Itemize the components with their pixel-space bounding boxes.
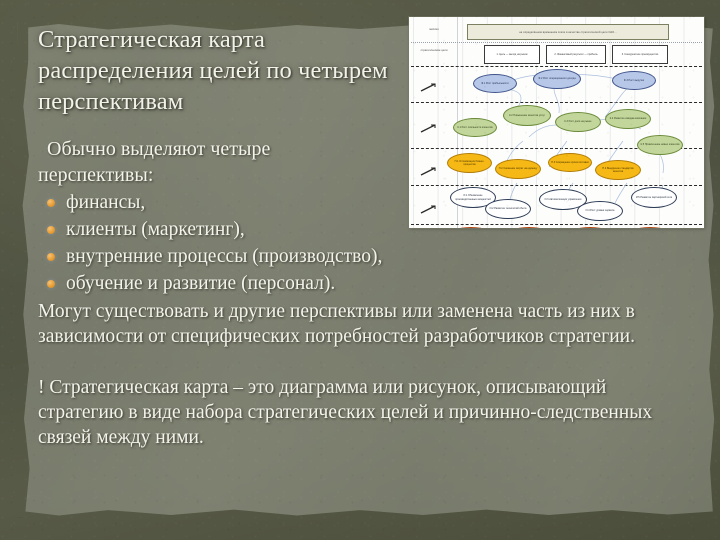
map-node: Р.4 Развитие кадрового резерва — [625, 227, 675, 228]
page-title: Стратегическая карта распределения целей… — [38, 24, 388, 117]
goal-box: 1. Цель — выход на рынок — [484, 45, 540, 64]
band-arrow-icon — [420, 79, 437, 88]
map-node: Ф.2 Рост операционного дохода — [533, 69, 581, 89]
row-separator-dotted — [411, 42, 702, 43]
lead-paragraph: Обычно выделяют четыре перспективы: — [38, 136, 368, 188]
map-node: П.4 Внедрение стандартов качества — [595, 160, 641, 180]
map-node: И.2 Развитие технологий сбыта — [485, 199, 531, 219]
band-arrow-icon — [420, 120, 437, 129]
band-separator — [411, 102, 702, 103]
band-label-mission: миссия — [413, 28, 455, 32]
mission-bar-label: на определённом временном этапе в качест… — [468, 25, 668, 39]
list-item: внутренние процессы (производство), — [38, 243, 683, 270]
map-node: Р.3 Формирование корпоративной культуры — [565, 227, 615, 228]
band-separator — [411, 66, 702, 67]
map-node: К.3 Рост доли на рынке — [555, 112, 601, 132]
map-node: П.3 Сокращение срока поставки — [548, 153, 592, 172]
map-node: П.1 Оптимизация бизнес-процессов — [447, 153, 492, 173]
list-item-label: финансы, — [66, 192, 145, 213]
goal-box: 2. Финансовый результат — прибыль — [546, 45, 606, 64]
map-node: Р.2 Развитие системы мотивации — [504, 227, 554, 228]
bullet-dot-icon — [47, 226, 55, 234]
map-node: Ф.3 Рост выручки — [612, 71, 656, 90]
band-separator — [411, 185, 702, 186]
map-node: К.5 Привлечение новых клиентов — [637, 135, 683, 155]
map-node: К.4 Развитие имиджа компании — [605, 109, 651, 129]
bullet-dot-icon — [47, 280, 55, 288]
band-label-strategic-goals: стратегические цели — [413, 49, 455, 53]
band-arrow-icon — [420, 163, 437, 172]
map-node: Ф.1 Рост прибыльности — [473, 74, 517, 93]
map-node: К.2 Повышение качества услуг — [503, 105, 551, 126]
bullet-dot-icon — [47, 199, 55, 207]
goal-box: 3. Конкурентное преимущество — [612, 45, 668, 64]
strategic-map-image[interactable]: миссия на определённом временном этапе в… — [409, 17, 704, 228]
list-item-label: внутренние процессы (производство), — [66, 246, 382, 267]
map-node: К.1 Рост лояльности клиентов — [453, 118, 497, 137]
mission-bar: на определённом временном этапе в качест… — [467, 24, 669, 40]
slide: Стратегическая карта распределения целей… — [0, 0, 720, 540]
map-node: И.5 Развитие партнёрской сети — [631, 187, 677, 208]
body-paragraph-1: Могут существовать и другие перспективы … — [38, 299, 678, 349]
band-arrow-icon — [420, 201, 437, 210]
list-item: обучение и развитие (персонал). — [38, 270, 683, 297]
band-separator — [411, 224, 702, 225]
list-item-label: клиенты (маркетинг), — [66, 219, 245, 240]
map-node: П.2 Снижение затрат на единицу — [495, 159, 541, 179]
list-item-label: обучение и развитие (персонал). — [66, 273, 335, 294]
map-node: И.4 Рост уровня сервиса — [577, 201, 623, 221]
body-paragraph-2: ! Стратегическая карта – это диаграмма и… — [38, 375, 678, 450]
bullet-dot-icon — [47, 253, 55, 261]
